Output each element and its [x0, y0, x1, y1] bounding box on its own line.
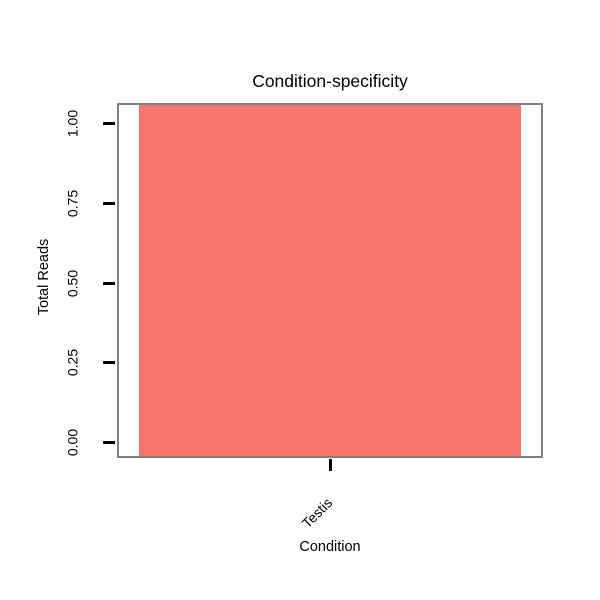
bars-layer: [119, 105, 541, 456]
bar-testis[interactable]: [139, 105, 520, 456]
x-axis-title: Condition: [117, 539, 543, 555]
ytick-mark-0.50: [103, 282, 115, 285]
xtick-mark-testis: [329, 459, 332, 471]
ytick-mark-0.00: [103, 441, 115, 444]
y-axis-title: Total Reads: [36, 217, 52, 337]
ytick-mark-0.75: [103, 202, 115, 205]
ytick-label-0.25: 0.25: [65, 338, 82, 388]
ytick-mark-0.25: [103, 361, 115, 364]
ytick-label-1.00: 1.00: [65, 99, 82, 149]
chart-canvas: Condition-specificity 1.00 0.75 0.50 0.2…: [0, 0, 600, 600]
ytick-mark-1.00: [103, 122, 115, 125]
plot-panel: [117, 103, 543, 458]
ytick-label-0.00: 0.00: [65, 418, 82, 468]
ytick-label-0.75: 0.75: [65, 179, 82, 229]
chart-title: Condition-specificity: [117, 71, 543, 91]
ytick-label-0.50: 0.50: [65, 259, 82, 309]
